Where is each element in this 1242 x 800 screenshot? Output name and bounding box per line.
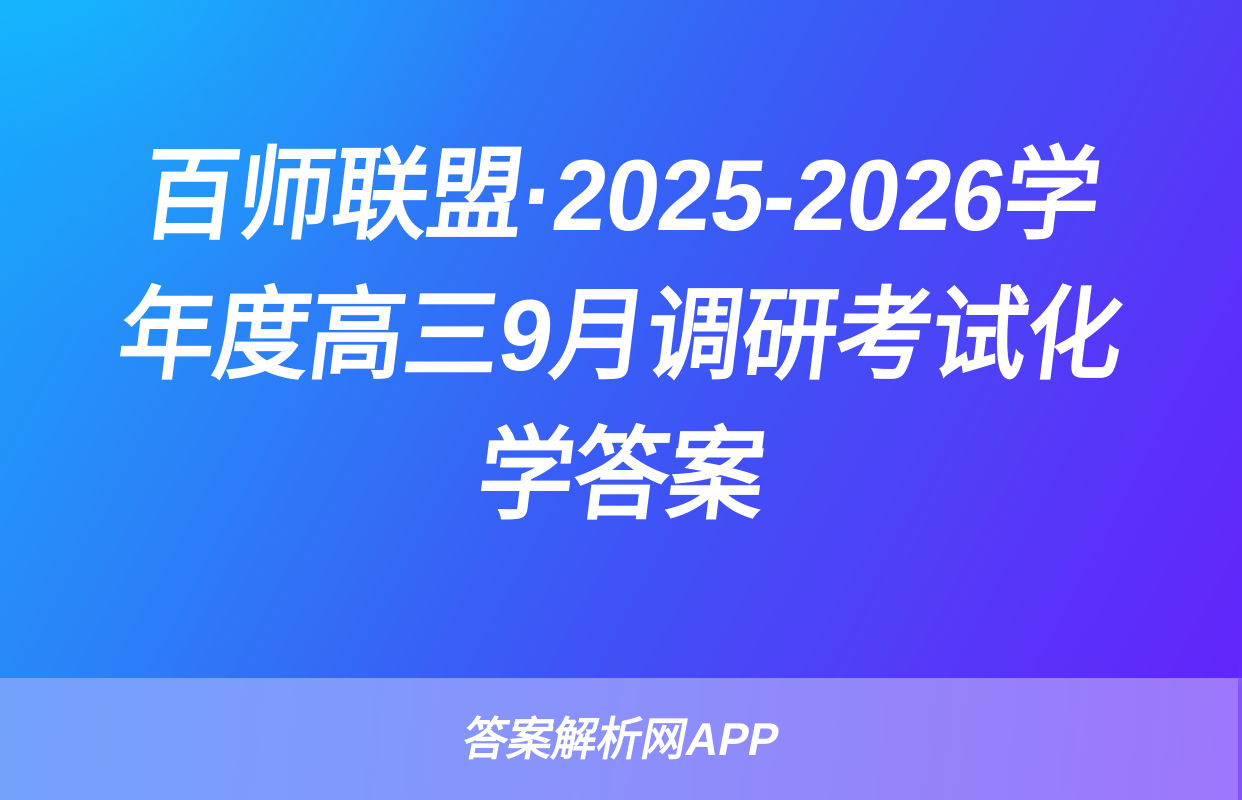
- poster-card: 百师联盟·2025-2026学 年度高三9月调研考试化 学答案 答案解析网APP: [0, 0, 1242, 800]
- title-line-3: 学答案: [470, 406, 772, 546]
- watermark-footer-band: 答案解析网APP: [0, 678, 1242, 800]
- title-line-2: 年度高三9月调研考试化: [111, 266, 1131, 406]
- app-watermark-label: 答案解析网APP: [459, 713, 784, 765]
- title-line-1: 百师联盟·2025-2026学: [134, 126, 1107, 266]
- poster-title: 百师联盟·2025-2026学 年度高三9月调研考试化 学答案: [0, 0, 1242, 678]
